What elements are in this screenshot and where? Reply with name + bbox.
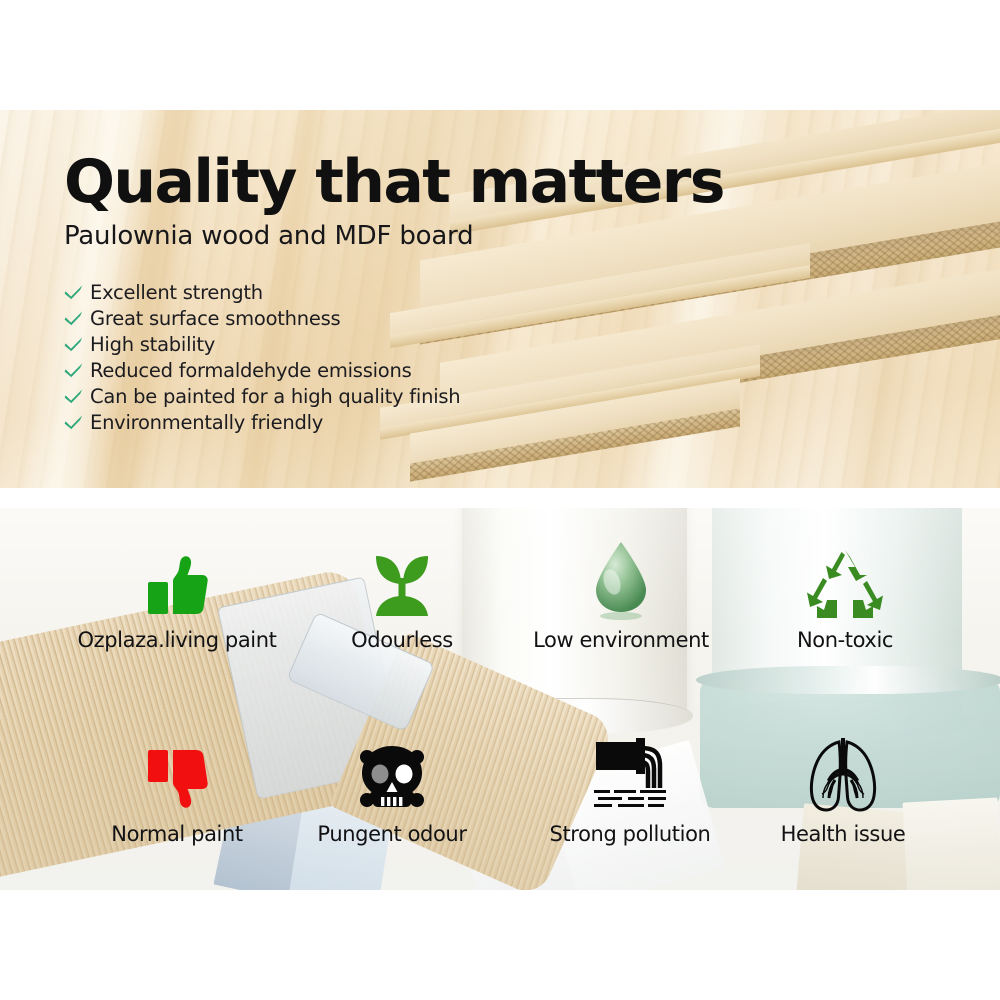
benefit-item-low-environment: Low environment [496,536,746,652]
page-subtitle: Paulownia wood and MDF board [64,221,704,251]
drawback-label: Pungent odour [267,822,517,846]
list-item: Can be painted for a high quality finish [64,383,704,409]
promotional-banner: Quality that matters Paulownia wood and … [0,0,1000,1000]
list-item-label: Environmentally friendly [90,411,323,434]
list-item-label: Can be painted for a high quality finish [90,385,460,408]
recycle-icon [720,536,970,622]
benefit-icon-grid: Ozplaza.living paint Odourless [0,508,1000,890]
list-item-label: Excellent strength [90,281,263,304]
list-item-label: Great surface smoothness [90,307,340,330]
drawback-item-health-issue: Health issue [718,730,968,846]
benefit-item-non-toxic: Non-toxic [720,536,970,652]
water-drop-icon [496,536,746,622]
drawback-label: Normal paint [52,822,302,846]
skull-crossbones-icon [267,730,517,816]
list-item: Great surface smoothness [64,305,704,331]
benefit-label: Non-toxic [720,628,970,652]
check-icon [64,388,90,404]
list-item: High stability [64,331,704,357]
check-icon [64,336,90,352]
benefit-item-odourless: Odourless [277,536,527,652]
list-item-label: High stability [90,333,215,356]
lungs-icon [718,730,968,816]
benefit-label: Odourless [277,628,527,652]
check-icon [64,362,90,378]
thumbs-down-icon [52,730,302,816]
paint-comparison-panel: Ozplaza.living paint Odourless [0,508,1000,890]
benefit-item-ozplaza-paint: Ozplaza.living paint [52,536,302,652]
thumbs-up-icon [52,536,302,622]
list-item-label: Reduced formaldehyde emissions [90,359,411,382]
drawback-item-normal-paint: Normal paint [52,730,302,846]
feature-bullet-list: Excellent strength Great surface smoothn… [64,279,704,435]
check-icon [64,414,90,430]
list-item: Excellent strength [64,279,704,305]
benefit-label: Low environment [496,628,746,652]
check-icon [64,284,90,300]
drawback-item-pungent-odour: Pungent odour [267,730,517,846]
wood-panel-copy: Quality that matters Paulownia wood and … [64,152,704,435]
check-icon [64,310,90,326]
benefit-label: Ozplaza.living paint [52,628,302,652]
wood-feature-panel: Quality that matters Paulownia wood and … [0,110,1000,488]
list-item: Reduced formaldehyde emissions [64,357,704,383]
page-title: Quality that matters [64,152,704,212]
sprout-icon [277,536,527,622]
drawback-label: Health issue [718,822,968,846]
list-item: Environmentally friendly [64,409,704,435]
